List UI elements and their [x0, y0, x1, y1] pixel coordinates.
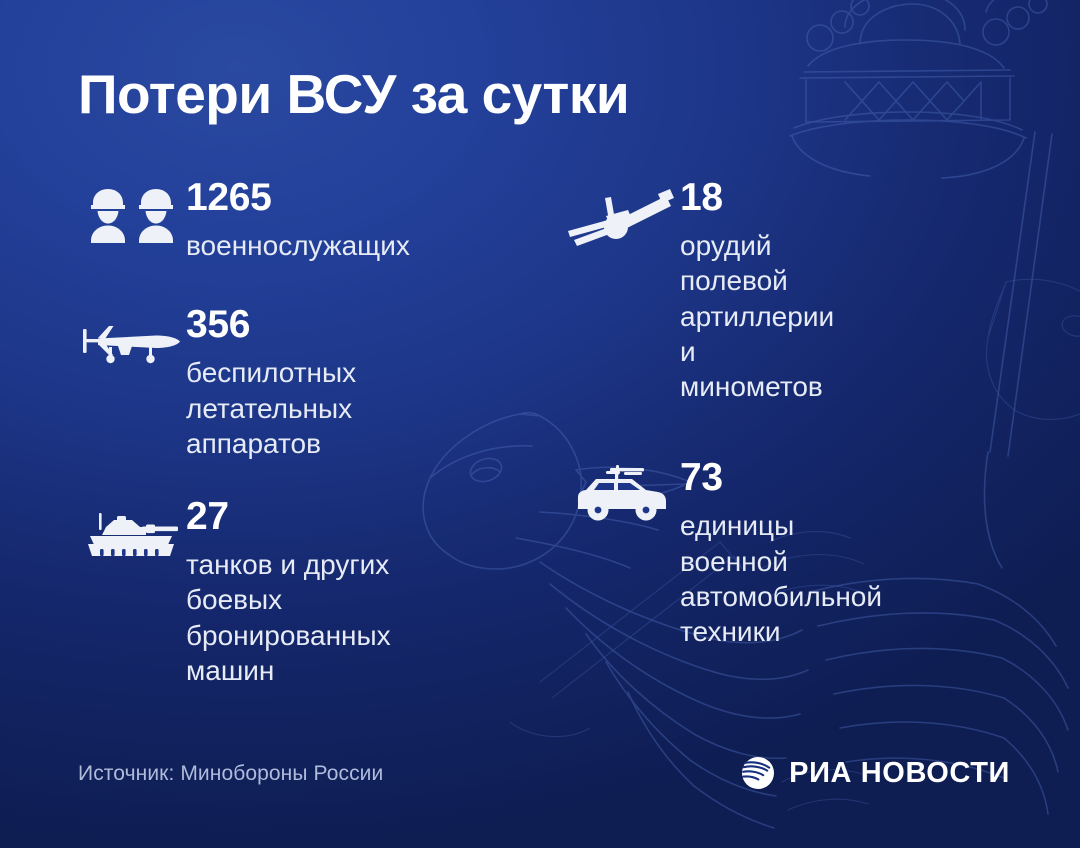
military-vehicle-icon	[560, 456, 680, 522]
stat-drones: 356 беспилотных летательных аппаратов	[78, 303, 500, 461]
stat-vehicles: 73 единицы военной автомобильной техники	[560, 456, 598, 649]
stat-label: военнослужащих	[186, 228, 410, 263]
stat-text-block: 1265 военнослужащих	[186, 176, 410, 263]
stat-text-block: 27 танков и других боевых бронированных …	[186, 495, 391, 688]
stat-artillery: 18 орудий полевой артиллерии и минометов	[560, 176, 598, 404]
stat-personnel: 1265 военнослужащих	[78, 176, 500, 263]
stat-text-block: 18 орудий полевой артиллерии и минометов	[680, 176, 834, 404]
stat-label: танков и других боевых бронированных маш…	[186, 547, 391, 688]
stat-text-block: 356 беспилотных летательных аппаратов	[186, 303, 356, 461]
stat-label: единицы военной автомобильной техники	[680, 508, 882, 649]
ria-swoosh-icon	[741, 756, 775, 790]
drone-icon	[78, 303, 186, 367]
ria-novosti-logo: РИА НОВОСТИ	[741, 756, 1010, 790]
infographic-poster: Потери ВСУ за сутки	[0, 0, 1080, 848]
two-soldiers-icon	[78, 176, 186, 244]
page-title: Потери ВСУ за сутки	[78, 62, 629, 126]
stat-label: орудий полевой артиллерии и минометов	[680, 228, 834, 404]
stat-value: 73	[680, 458, 882, 497]
stat-label: беспилотных летательных аппаратов	[186, 355, 356, 461]
stat-value: 27	[186, 497, 391, 536]
stats-columns: 1265 военнослужащих	[0, 176, 1080, 688]
stat-value: 356	[186, 305, 356, 344]
brand-name: РИА НОВОСТИ	[789, 757, 1010, 790]
stat-text-block: 73 единицы военной автомобильной техники	[680, 456, 882, 649]
howitzer-icon	[560, 176, 680, 246]
stats-column-left: 1265 военнослужащих	[0, 176, 500, 688]
tank-icon	[78, 495, 186, 563]
stat-value: 18	[680, 178, 834, 217]
source-note: Источник: Минобороны России	[78, 762, 383, 786]
stat-tanks: 27 танков и других боевых бронированных …	[78, 495, 500, 688]
stat-value: 1265	[186, 178, 410, 217]
